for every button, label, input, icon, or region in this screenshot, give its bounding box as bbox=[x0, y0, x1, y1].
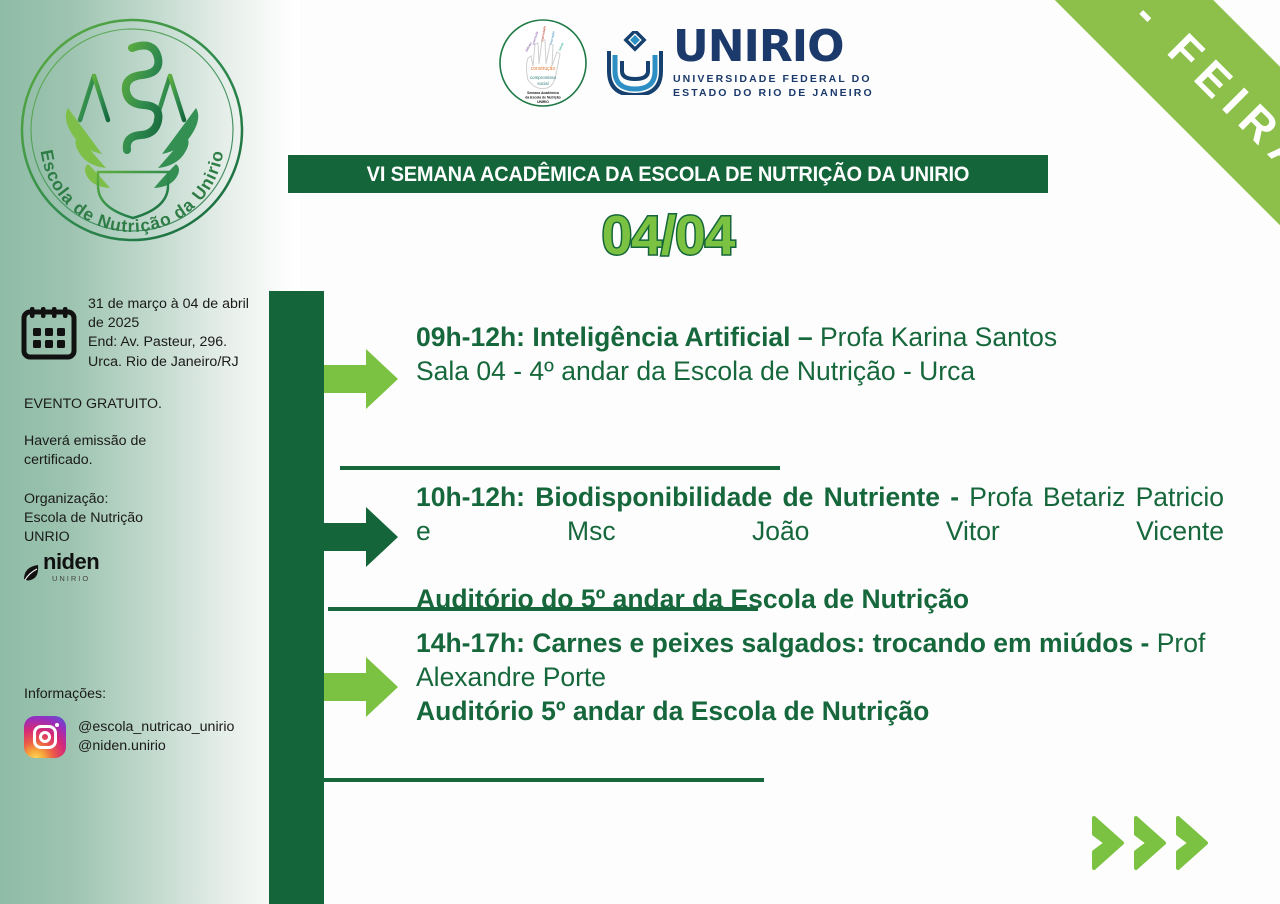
schedule-entry-3-location: Auditório 5º andar da Escola de Nutrição bbox=[416, 695, 1224, 729]
event-dates: 31 de março à 04 de abril de 2025 bbox=[88, 295, 258, 333]
organization-line-2: UNRIO bbox=[24, 528, 254, 547]
unirio-mark-icon bbox=[606, 31, 664, 95]
svg-text:Semana Acadêmica: Semana Acadêmica bbox=[527, 91, 559, 95]
svg-text:compromisso: compromisso bbox=[530, 75, 557, 80]
schedule-entry-1-line1: 09h-12h: Inteligência Artificial – Profa… bbox=[416, 321, 1224, 355]
niden-logo: niden UNIRIO bbox=[22, 552, 99, 583]
chevron-2 bbox=[1134, 814, 1172, 872]
unirio-subtitle: UNIVERSIDADE FEDERAL DO ESTADO DO RIO DE… bbox=[673, 73, 874, 100]
svg-text:social: social bbox=[537, 81, 548, 86]
certificate-line-1: Haverá emissão de bbox=[24, 432, 254, 451]
schedule-entry-3: 14h-17h: Carnes e peixes salgados: troca… bbox=[324, 627, 1224, 729]
niden-subtitle: UNIRIO bbox=[43, 574, 99, 583]
arrow-icon-3 bbox=[324, 657, 398, 717]
calendar-icon bbox=[20, 303, 78, 361]
schedule-entry-1-speaker: Profa Karina Santos bbox=[813, 322, 1058, 352]
niden-leaf-icon bbox=[22, 563, 40, 583]
unirio-subtitle-line2: ESTADO DO RIO DE JANEIRO bbox=[673, 87, 874, 101]
instagram-contact[interactable]: @escola_nutricao_unirio @niden.unirio bbox=[24, 716, 234, 758]
unirio-logo: UNIRIO UNIVERSIDADE FEDERAL DO ESTADO DO… bbox=[606, 25, 874, 100]
schedule-entry-2-line1: 10h-12h: Biodisponibilidade de Nutriente… bbox=[416, 481, 1224, 583]
schedule-entry-1-location: Sala 04 - 4º andar da Escola de Nutrição… bbox=[416, 355, 1224, 389]
unirio-wordmark: UNIRIO bbox=[673, 25, 874, 69]
certificate-note: Haverá emissão de certificado. bbox=[24, 432, 254, 470]
schedule-entry-1-title: 09h-12h: Inteligência Artificial – bbox=[416, 322, 813, 352]
escola-nutricao-seal-logo: Escola de Nutrição da Unirio bbox=[14, 12, 250, 248]
svg-text:da Escola de Nutrição: da Escola de Nutrição bbox=[525, 96, 560, 100]
address-line-2: Urca. Rio de Janeiro/RJ bbox=[88, 353, 258, 372]
arrow-icon-2 bbox=[324, 507, 398, 567]
title-banner: VI SEMANA ACADÊMICA DA ESCOLA DE NUTRIÇÃ… bbox=[288, 155, 1048, 193]
instagram-icon[interactable] bbox=[24, 716, 66, 758]
organization-line-1: Escola de Nutrição bbox=[24, 509, 254, 528]
instagram-handles: @escola_nutricao_unirio @niden.unirio bbox=[78, 718, 234, 756]
schedule-divider-1 bbox=[340, 466, 780, 470]
schedule-entry-2: 10h-12h: Biodisponibilidade de Nutriente… bbox=[324, 481, 1224, 617]
schedule-entry-1-body: 09h-12h: Inteligência Artificial – Profa… bbox=[416, 321, 1224, 389]
schedule-entry-1: 09h-12h: Inteligência Artificial – Profa… bbox=[324, 321, 1224, 389]
svg-text:UNIRIO: UNIRIO bbox=[537, 100, 549, 104]
unirio-subtitle-line1: UNIVERSIDADE FEDERAL DO bbox=[673, 73, 874, 87]
organization-note: Organização: Escola de Nutrição UNRIO bbox=[24, 490, 254, 548]
certificate-line-2: certificado. bbox=[24, 451, 254, 470]
chevron-3 bbox=[1176, 814, 1214, 872]
semana-academica-logo: diálogo juventude criatividade inovação … bbox=[498, 18, 588, 108]
schedule-entry-2-location: Auditório do 5º andar da Escola de Nutri… bbox=[416, 583, 1224, 617]
free-event-note: EVENTO GRATUITO. bbox=[24, 395, 254, 414]
address-line-1: End: Av. Pasteur, 296. bbox=[88, 333, 258, 352]
instagram-handle-1[interactable]: @escola_nutricao_unirio bbox=[78, 718, 234, 737]
instagram-handle-2[interactable]: @niden.unirio bbox=[78, 737, 234, 756]
niden-wordmark: niden bbox=[43, 552, 99, 573]
instagram-icon-dot bbox=[55, 723, 59, 727]
chevrons-right-icon bbox=[1092, 814, 1214, 872]
poster-canvas: Escola de Nutrição da Unirio diálogo juv… bbox=[0, 0, 1280, 904]
schedule-list: 09h-12h: Inteligência Artificial – Profa… bbox=[324, 291, 1224, 904]
schedule-divider-3 bbox=[320, 778, 764, 782]
schedule-entry-3-body: 14h-17h: Carnes e peixes salgados: troca… bbox=[416, 627, 1224, 729]
schedule-entry-3-title: 14h-17h: Carnes e peixes salgados: troca… bbox=[416, 628, 1149, 658]
organization-label: Organização: bbox=[24, 490, 254, 509]
svg-text:construção: construção bbox=[531, 66, 556, 72]
schedule-entry-3-line1: 14h-17h: Carnes e peixes salgados: troca… bbox=[416, 627, 1224, 695]
schedule-entry-2-body: 10h-12h: Biodisponibilidade de Nutriente… bbox=[416, 481, 1224, 617]
header-logos: diálogo juventude criatividade inovação … bbox=[498, 18, 874, 108]
vertical-accent-bar bbox=[269, 291, 324, 904]
free-event-text: EVENTO GRATUITO. bbox=[24, 395, 254, 414]
schedule-divider-2 bbox=[328, 607, 758, 611]
banner-title: VI SEMANA ACADÊMICA DA ESCOLA DE NUTRIÇÃ… bbox=[367, 162, 970, 187]
chevron-1 bbox=[1092, 814, 1130, 872]
arrow-icon-1 bbox=[324, 349, 398, 409]
event-date-address: 31 de março à 04 de abril de 2025 End: A… bbox=[88, 295, 258, 372]
instagram-icon-lens bbox=[39, 731, 51, 743]
info-label: Informações: bbox=[24, 686, 106, 702]
schedule-entry-2-title: 10h-12h: Biodisponibilidade de Nutriente… bbox=[416, 482, 959, 512]
date-headline: 04/04 bbox=[288, 203, 1048, 267]
